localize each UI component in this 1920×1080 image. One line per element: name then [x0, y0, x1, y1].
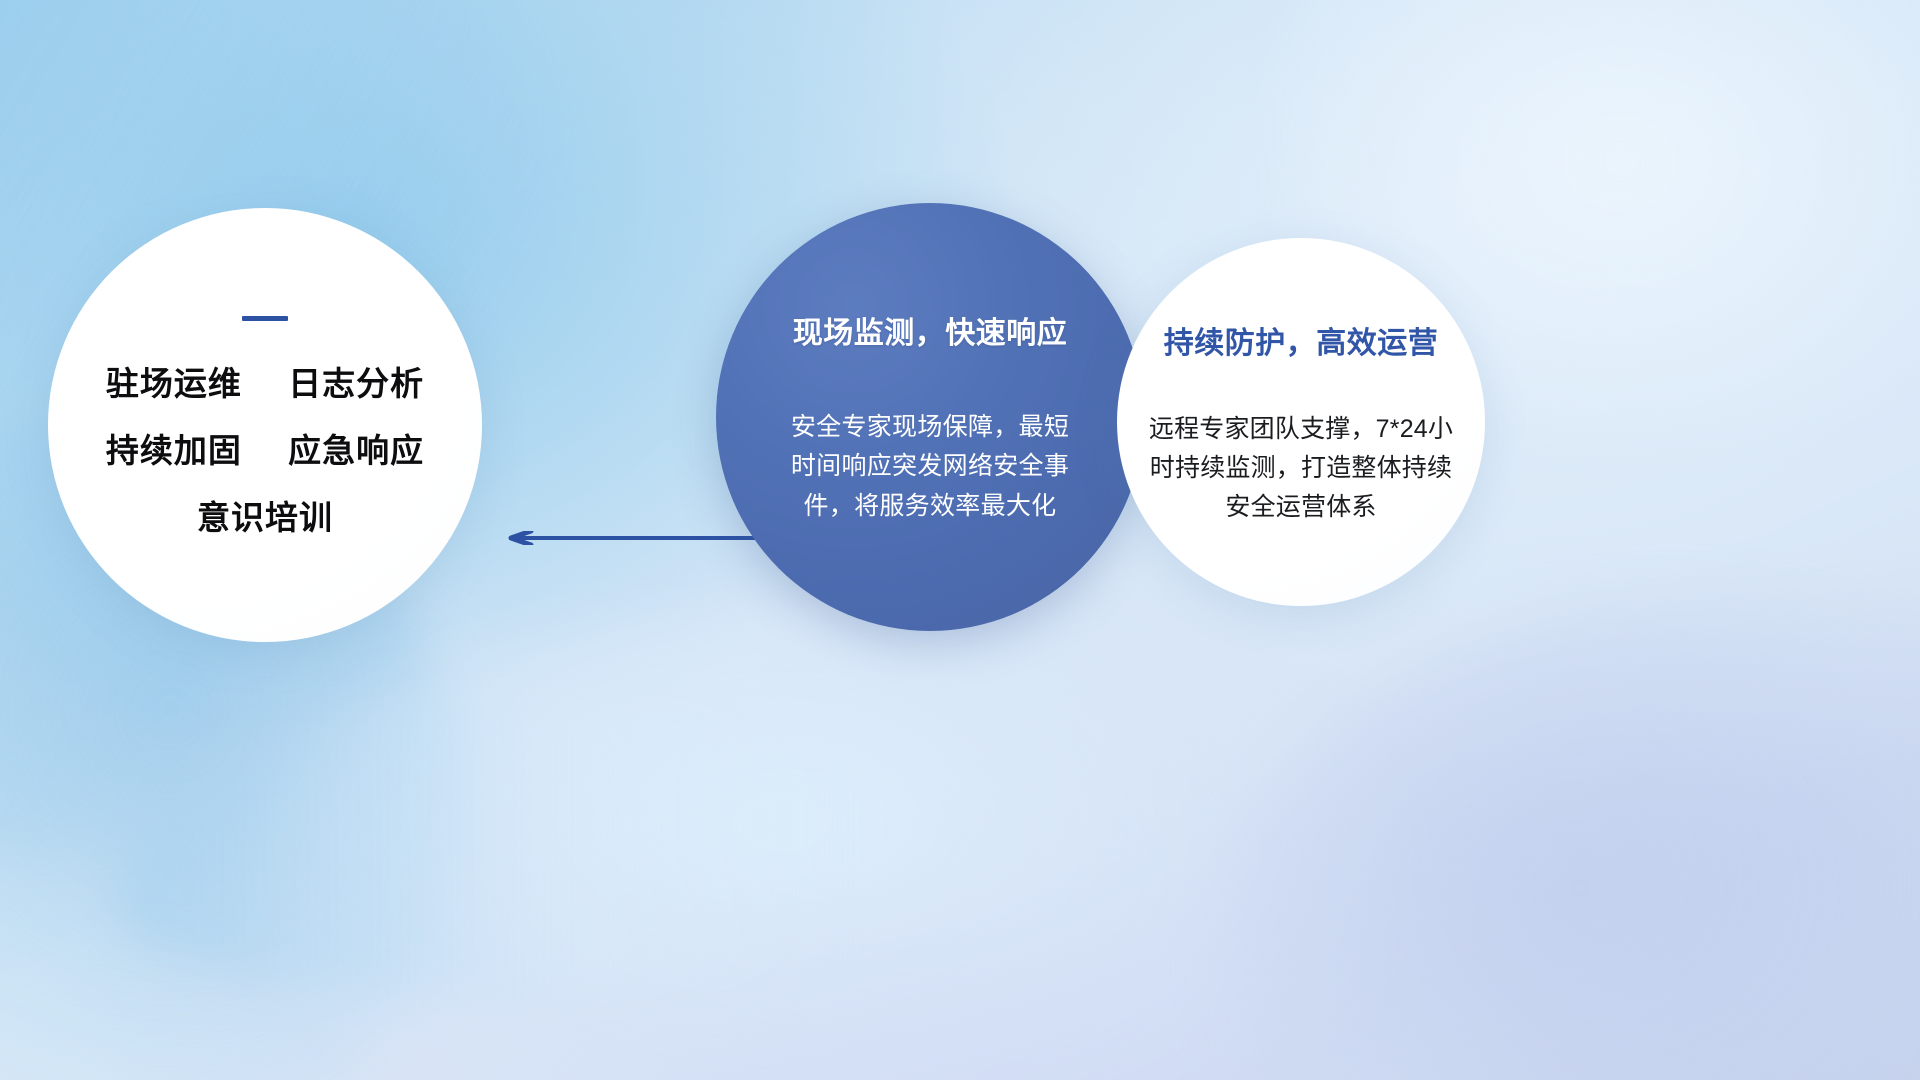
background-swirl-bottom-right: [1220, 600, 1920, 1080]
background-glow-bottom-center: [240, 600, 1420, 1080]
capability-row-3: 意识培训: [106, 501, 424, 534]
divider-dash: [242, 316, 288, 321]
capability-row-1: 驻场运维 日志分析: [106, 367, 424, 400]
onsite-monitoring-body: 安全专家现场保障，最短时间响应突发网络安全事件，将服务效率最大化: [787, 408, 1073, 527]
onsite-monitoring-circle[interactable]: 现场监测，快速响应 安全专家现场保障，最短时间响应突发网络安全事件，将服务效率最…: [716, 203, 1144, 631]
capabilities-content: 驻场运维 日志分析 持续加固 应急响应 意识培训: [76, 316, 454, 534]
capability-row-2: 持续加固 应急响应: [106, 434, 424, 467]
onsite-monitoring-heading: 现场监测，快速响应: [744, 308, 1116, 352]
background-ribbon-bottom-left: [120, 700, 940, 1000]
capability-label-continuous-hardening: 持续加固: [106, 432, 242, 469]
continuous-protection-content: 持续防护，高效运营 远程专家团队支撑，7*24小时持续监测，打造整体持续安全运营…: [1117, 318, 1485, 527]
onsite-monitoring-content: 现场监测，快速响应 安全专家现场保障，最短时间响应突发网络安全事件，将服务效率最…: [716, 308, 1144, 527]
continuous-protection-heading: 持续防护，高效运营: [1139, 318, 1463, 362]
capability-label-onsite-ops: 驻场运维: [106, 365, 242, 402]
capability-label-log-analysis: 日志分析: [288, 365, 424, 402]
capabilities-circle[interactable]: 驻场运维 日志分析 持续加固 应急响应 意识培训: [48, 208, 482, 642]
continuous-protection-body: 远程专家团队支撑，7*24小时持续监测，打造整体持续安全运营体系: [1139, 410, 1463, 527]
capability-label-awareness-training: 意识培训: [197, 499, 333, 536]
slide-canvas: 驻场运维 日志分析 持续加固 应急响应 意识培训 现场监测，快速响应 安全专家现…: [0, 0, 1920, 1080]
continuous-protection-circle[interactable]: 持续防护，高效运营 远程专家团队支撑，7*24小时持续监测，打造整体持续安全运营…: [1117, 238, 1485, 606]
capability-label-emergency-response: 应急响应: [288, 432, 424, 469]
